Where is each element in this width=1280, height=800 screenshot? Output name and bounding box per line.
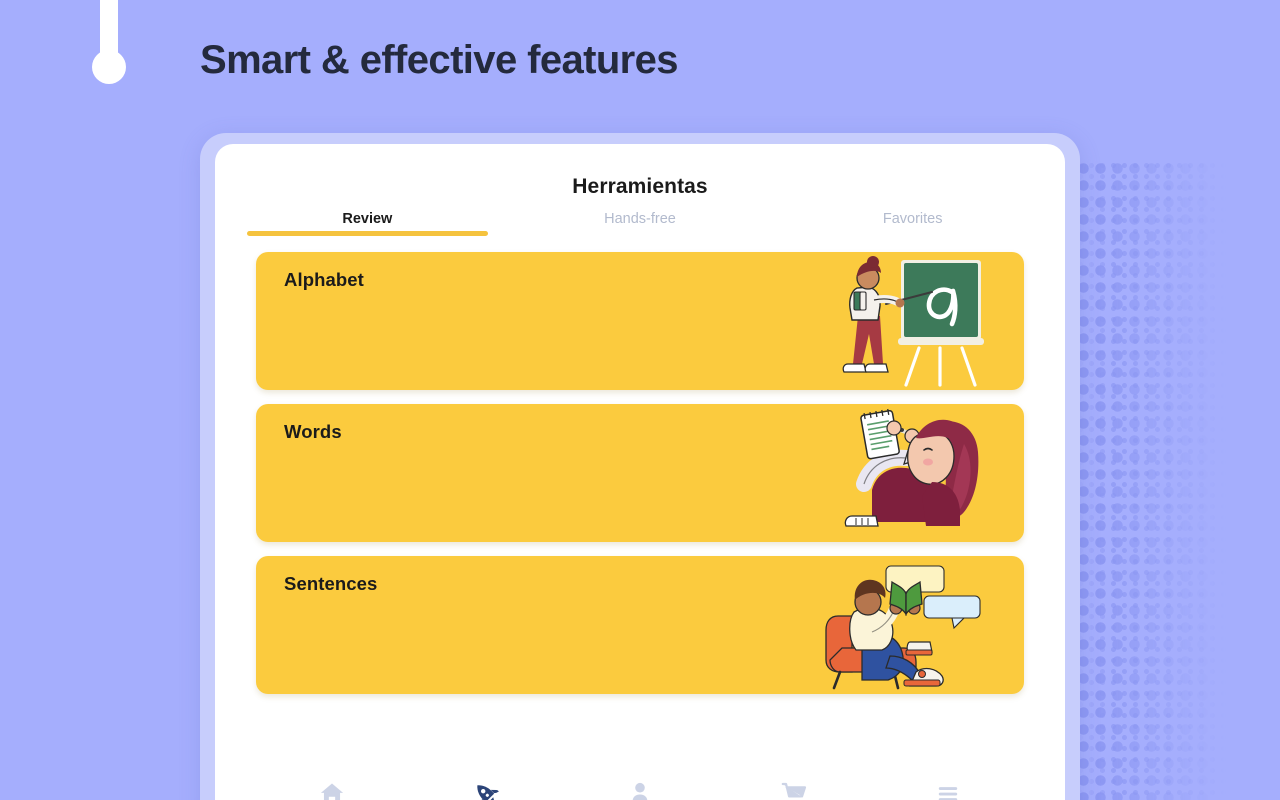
card-sentences-title: Sentences [284,573,377,595]
tab-bar: Review Hands-free Favorites [215,211,1065,236]
tab-hands-free-label: Hands-free [604,211,676,227]
app-title: Herramientas [215,175,1065,199]
nav-profile[interactable] [563,780,717,800]
card-words[interactable]: Words [256,404,1024,542]
pin-marker-dot [92,50,126,84]
halftone-dot-pattern [1075,160,1255,800]
tab-favorites[interactable]: Favorites [776,211,1049,236]
girl-writing-notepad-icon [824,404,1014,542]
card-words-title: Words [284,421,342,443]
app-screen: Herramientas Review Hands-free Favorites… [215,144,1065,800]
person-reading-book-armchair-icon [824,556,1014,694]
nav-home[interactable] [255,780,409,800]
nav-menu[interactable] [871,780,1025,800]
tab-review-label: Review [342,211,392,227]
nav-cart[interactable] [717,780,871,800]
tab-review[interactable]: Review [231,211,504,236]
halftone-dot-pattern-fine [1075,160,1255,800]
tab-hands-free[interactable]: Hands-free [504,211,777,236]
rocket-icon [472,780,500,800]
bottom-nav [215,780,1065,800]
card-sentences[interactable]: Sentences [256,556,1024,694]
page-title: Smart & effective features [200,38,678,83]
home-icon [318,780,346,800]
teacher-chalkboard-cursive-a-icon [824,252,1014,390]
card-alphabet-title: Alphabet [284,269,364,291]
card-list: Alphabet [215,236,1065,694]
card-alphabet[interactable]: Alphabet [256,252,1024,390]
profile-icon [626,780,654,800]
cart-icon [780,780,808,800]
tab-favorites-label: Favorites [883,211,943,227]
menu-icon [935,781,961,800]
nav-rocket[interactable] [409,780,563,800]
